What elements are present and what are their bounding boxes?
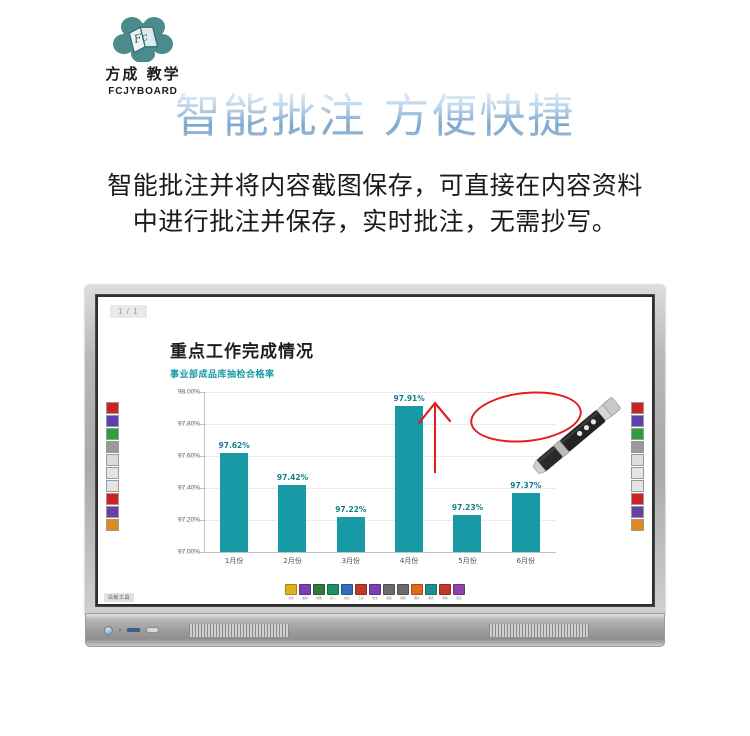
power-button-icon[interactable] [104, 626, 113, 635]
select-tool-icon[interactable] [106, 467, 119, 479]
annotate-icon [369, 584, 381, 595]
save-tool-icon[interactable] [631, 519, 644, 531]
chart-bar [337, 517, 365, 552]
image-icon[interactable]: 图片 [411, 584, 423, 600]
subhead-line-1: 智能批注并将内容截图保存，可直接在内容资料 [0, 168, 750, 204]
page-indicator: 1 / 1 [110, 305, 147, 318]
toolbar-item-label: 插入 [328, 596, 339, 600]
help-icon [439, 584, 451, 595]
help-icon[interactable]: 帮助 [439, 584, 451, 600]
interactive-whiteboard-device: 1 / 1 重点工作完成情况 事业部成品库抽检合格率 98.00%97.80%9… [85, 285, 665, 650]
stylus-pen-icon [522, 390, 642, 490]
toolbar-item-label: 版面 [384, 596, 395, 600]
x-axis-line [204, 552, 556, 553]
x-axis-tick-label: 6月份 [497, 556, 555, 566]
image-icon [411, 584, 423, 595]
chart-bar [220, 453, 248, 552]
usb-port-icon [127, 628, 140, 632]
brand-name-cn: 方成 教学 [78, 63, 208, 84]
shape-tool-icon[interactable] [106, 454, 119, 466]
y-axis-tick-label: 97.60% [178, 453, 200, 460]
chart-bar [512, 493, 540, 552]
delete-tool-icon[interactable] [106, 493, 119, 505]
device-bezel: 1 / 1 重点工作完成情况 事业部成品库抽检合格率 98.00%97.80%9… [85, 285, 665, 615]
save-tool-icon[interactable] [106, 519, 119, 531]
toolbar-item-label: 排版 [398, 596, 409, 600]
edit-icon[interactable]: 编辑 [299, 584, 311, 600]
more-icon [453, 584, 465, 595]
y-axis-tick-mark [200, 488, 204, 489]
palette-tool-icon[interactable] [631, 506, 644, 518]
chart-icon [425, 584, 437, 595]
palette-tool-icon[interactable] [106, 506, 119, 518]
chart-plot-area: 98.00%97.80%97.60%97.40%97.20%97.00% 97.… [170, 392, 560, 577]
device-bezel-inner: 1 / 1 重点工作完成情况 事业部成品库抽检合格率 98.00%97.80%9… [95, 294, 655, 607]
x-axis-labels: 1月份2月份3月份4月份5月份6月份 [205, 556, 555, 572]
more-icon[interactable]: 更多 [453, 584, 465, 600]
undo-tool-icon[interactable] [106, 480, 119, 492]
brand-logo: Fc 方成 教学 FCJYBOARD [78, 14, 208, 97]
indicator-led [119, 629, 121, 631]
toolbar-item-label: 工具 [356, 596, 367, 600]
chart-bar-value-label: 97.23% [452, 503, 483, 512]
rainbow-pen-icon[interactable] [106, 428, 119, 440]
toolbar-item-label: 图表 [426, 596, 437, 600]
tools-icon[interactable]: 工具 [355, 584, 367, 600]
file-icon [285, 584, 297, 595]
edit-icon [299, 584, 311, 595]
screen-bottom-toolbar[interactable]: 文件编辑视图插入格式工具批注版面排版图片图表帮助更多 [285, 584, 465, 600]
flower-book-logo-icon: Fc [112, 14, 174, 62]
chart-subtitle: 事业部成品库抽检合格率 [170, 367, 570, 380]
speaker-grille-right [489, 624, 589, 637]
chart-title: 重点工作完成情况 [170, 337, 570, 362]
tools-icon [355, 584, 367, 595]
annotate-icon[interactable]: 批注 [369, 584, 381, 600]
y-axis-tick-label: 97.40% [178, 485, 200, 492]
highlighter-tool-icon[interactable] [106, 415, 119, 427]
layout-icon [397, 584, 409, 595]
y-axis-tick-label: 98.00% [178, 389, 200, 396]
pen-tool-icon[interactable] [106, 402, 119, 414]
y-axis-labels: 98.00%97.80%97.60%97.40%97.20%97.00% [170, 392, 204, 552]
layout-icon[interactable]: 排版 [397, 584, 409, 600]
toolbar-item-label: 文件 [286, 596, 297, 600]
chart-icon[interactable]: 图表 [425, 584, 437, 600]
toolbar-item-label: 视图 [314, 596, 325, 600]
view-icon [313, 584, 325, 595]
subhead-line-2: 中进行批注并保存，实时批注，无需抄写。 [0, 204, 750, 240]
red-up-arrow-annotation [415, 397, 455, 475]
x-axis-tick-label: 4月份 [380, 556, 438, 566]
device-base [85, 613, 665, 647]
y-axis-tick-mark [200, 552, 204, 553]
y-axis-tick-label: 97.20% [178, 517, 200, 524]
align-icon [383, 584, 395, 595]
toolbar-item-label: 图片 [412, 596, 423, 600]
chart-bar [278, 485, 306, 552]
format-icon [341, 584, 353, 595]
toolbar-item-label: 编辑 [300, 596, 311, 600]
insert-icon[interactable]: 插入 [327, 584, 339, 600]
view-icon[interactable]: 视图 [313, 584, 325, 600]
chart-bar-value-label: 97.62% [219, 441, 250, 450]
aux-port-icon [146, 627, 159, 633]
delete-tool-icon[interactable] [631, 493, 644, 505]
screen-status-tag: 白板工具 [104, 593, 134, 602]
y-axis-tick-mark [200, 424, 204, 425]
insert-icon [327, 584, 339, 595]
align-icon[interactable]: 版面 [383, 584, 395, 600]
page-subhead: 智能批注并将内容截图保存，可直接在内容资料 中进行批注并保存，实时批注，无需抄写… [0, 168, 750, 239]
y-axis-tick-mark [200, 520, 204, 521]
file-icon[interactable]: 文件 [285, 584, 297, 600]
chart-container: 重点工作完成情况 事业部成品库抽检合格率 98.00%97.80%97.60%9… [170, 337, 570, 577]
x-axis-tick-label: 2月份 [263, 556, 321, 566]
x-axis-tick-label: 5月份 [438, 556, 496, 566]
chart-bar-slot: 97.62% [205, 392, 263, 552]
device-screen: 1 / 1 重点工作完成情况 事业部成品库抽检合格率 98.00%97.80%9… [98, 297, 652, 604]
toolbar-item-label: 更多 [454, 596, 465, 600]
x-axis-tick-label: 1月份 [205, 556, 263, 566]
eraser-tool-icon[interactable] [106, 441, 119, 453]
toolbar-item-label: 批注 [370, 596, 381, 600]
chart-bar-slot: 97.42% [263, 392, 321, 552]
promo-page: Fc 方成 教学 FCJYBOARD 智能批注 方便快捷 智能批注并将内容截图保… [0, 0, 750, 736]
left-tool-strip[interactable] [106, 402, 119, 532]
chart-bar-value-label: 97.22% [335, 505, 366, 514]
chart-bar-slot: 97.22% [322, 392, 380, 552]
y-axis-tick-label: 97.00% [178, 549, 200, 556]
chart-bar-value-label: 97.42% [277, 473, 308, 482]
toolbar-item-label: 帮助 [440, 596, 451, 600]
y-axis-tick-mark [200, 392, 204, 393]
y-axis-tick-mark [200, 456, 204, 457]
y-axis-tick-label: 97.80% [178, 421, 200, 428]
page-headline: 智能批注 方便快捷 [0, 92, 750, 140]
toolbar-item-label: 格式 [342, 596, 353, 600]
x-axis-tick-label: 3月份 [322, 556, 380, 566]
speaker-grille-left [189, 624, 289, 637]
chart-bar [453, 515, 481, 552]
format-icon[interactable]: 格式 [341, 584, 353, 600]
